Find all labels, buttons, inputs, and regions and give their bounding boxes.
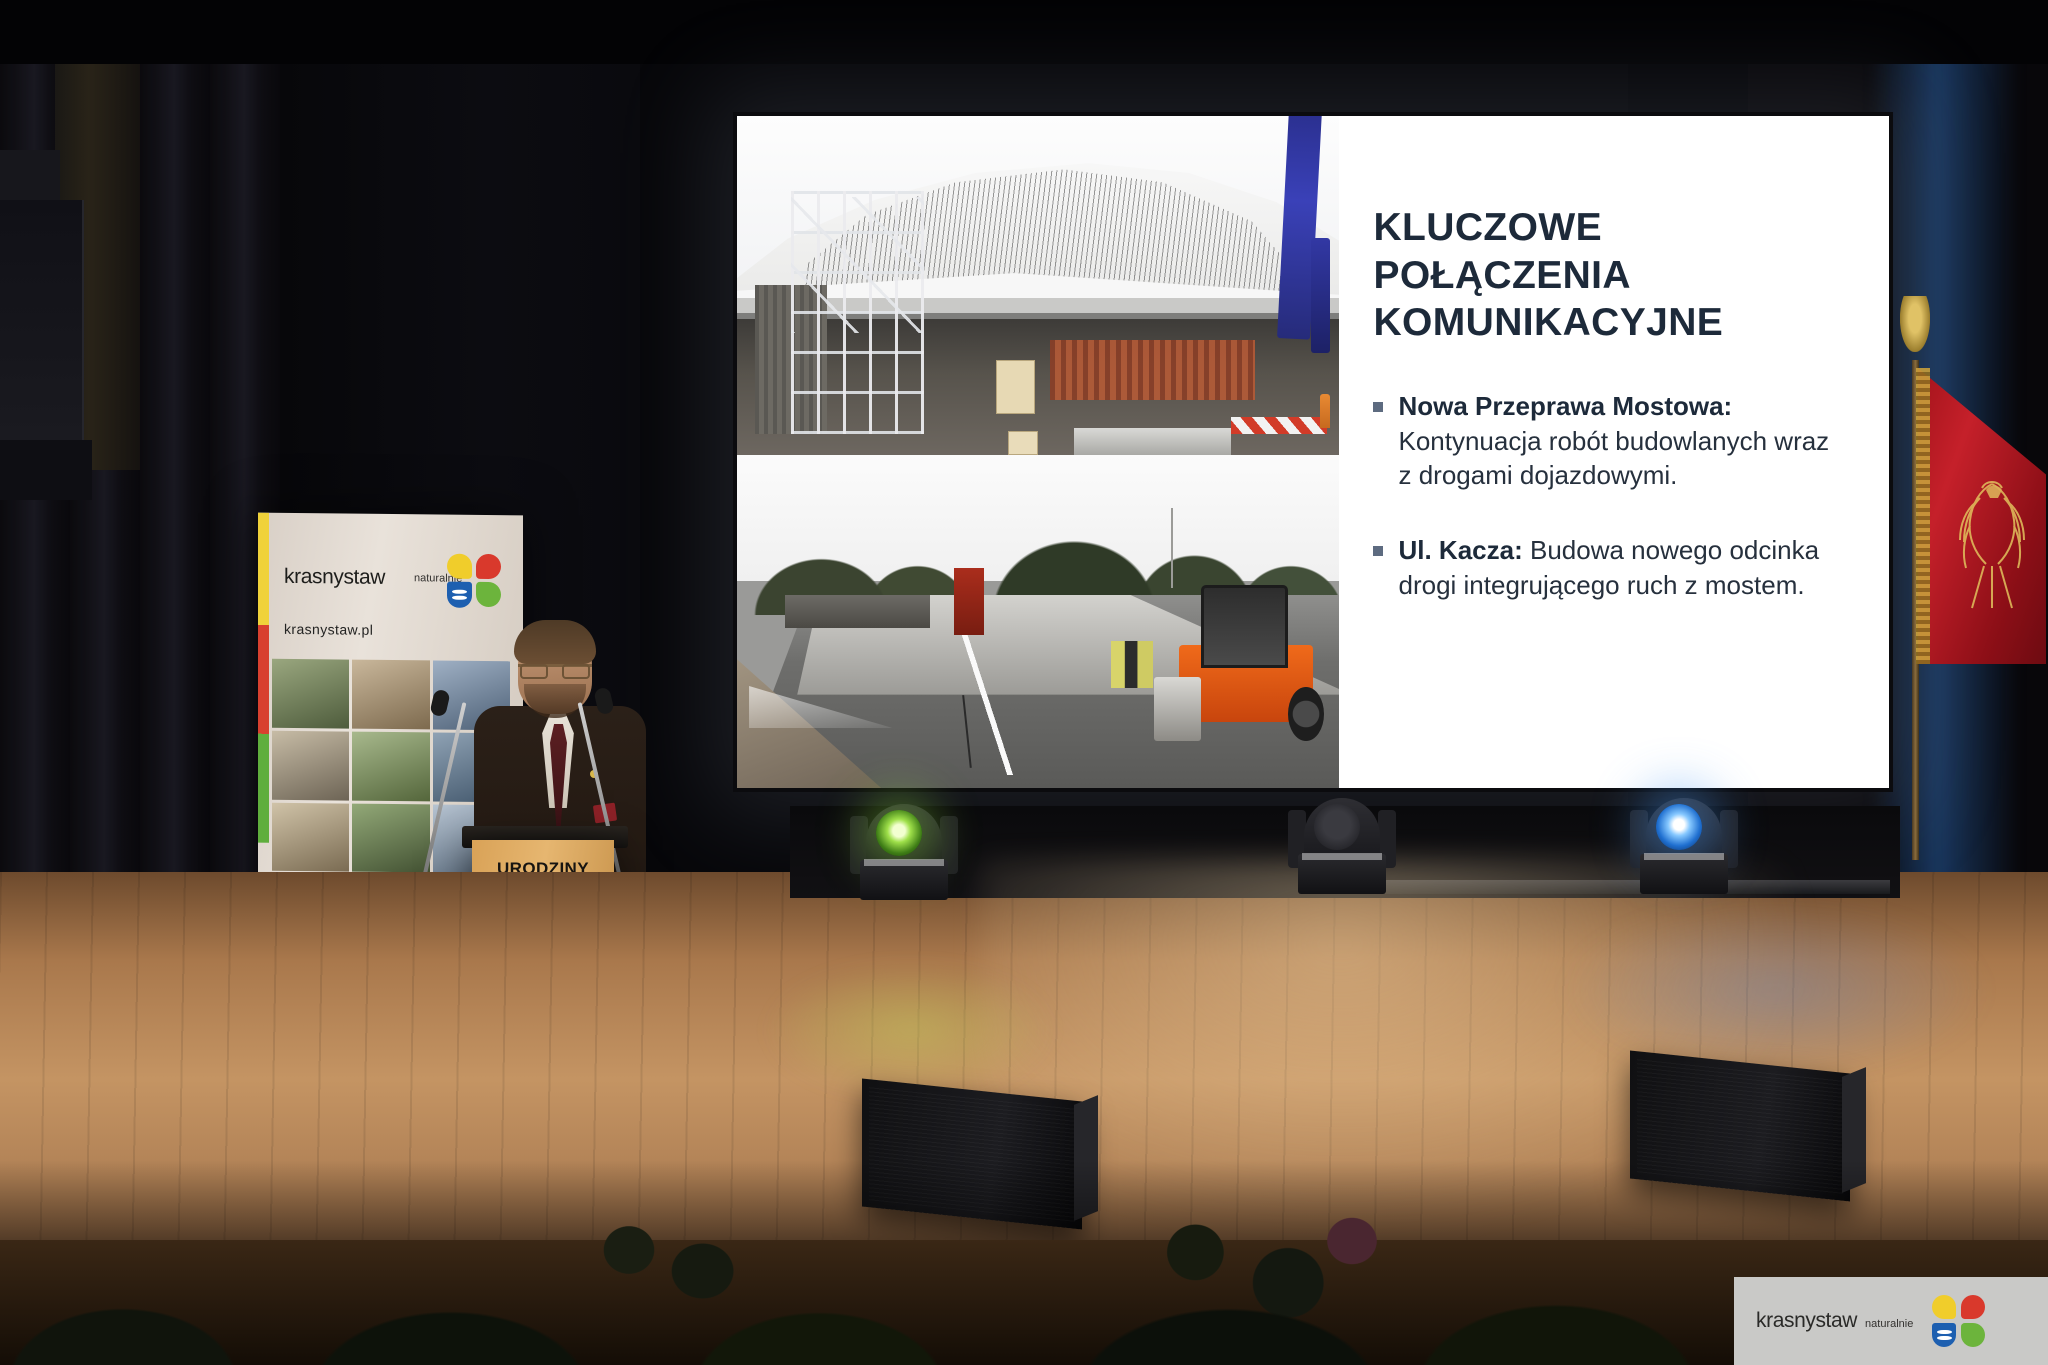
banner-photo-tile [352,731,429,801]
roller-cab [1201,585,1288,668]
banner-photo-tile [272,659,349,729]
slide-text-column: KLUCZOWE POŁĄCZENIA KOMUNIKACYJNE Nowa P… [1339,116,1889,788]
presentation-slide: KLUCZOWE POŁĄCZENIA KOMUNIKACYJNE Nowa P… [737,116,1889,788]
banner-gold-fringe [1916,368,1930,664]
krasnystaw-logo-marks [446,553,504,610]
light-indicator-bar [1302,853,1382,860]
stage-scene: KLUCZOWE POŁĄCZENIA KOMUNIKACYJNE Nowa P… [0,0,2048,1365]
bullet-1-body: Kontynuacja robót budowlanych wraz z dro… [1398,426,1829,491]
petal-green-icon [476,582,501,607]
petal-green-icon [1961,1323,1985,1347]
bullet-1-text: Nowa Przeprawa Mostowa: Kontynuacja robó… [1398,389,1845,493]
polish-eagle-icon [1946,468,2038,618]
bullet-1-lead: Nowa Przeprawa Mostowa: [1398,391,1732,421]
light-lens-blue [1656,804,1702,850]
light-indicator-bar [1644,853,1724,860]
site-sign [996,360,1035,414]
glasses-lens-right [562,664,590,679]
banner-photo-tile [272,731,349,801]
bullet-square-icon [1373,546,1383,556]
floor-light-pool-blue [1560,900,1990,1080]
site-sign-secondary [1008,431,1038,455]
light-lens-green [876,810,922,856]
slide-bullet-1: Nowa Przeprawa Mostowa: Kontynuacja robó… [1373,389,1845,493]
bullet-square-icon [1373,402,1383,412]
road-works-photo [737,455,1339,788]
bullet-2-lead: Ul. Kacza: [1398,535,1522,565]
glasses-lens-left [520,664,548,679]
equipment-rack-middle [0,200,84,440]
banner-photo-tile [352,660,429,730]
fish-glyph [1937,1336,1952,1340]
flag-finial-ornament [1900,296,1930,352]
light-indicator-bar [864,859,944,866]
speaker-hair [514,620,596,664]
fish-glyph [1937,1330,1952,1334]
banner-logo: krasnystaw naturalnie [284,549,504,613]
petal-red-icon [1961,1295,1985,1319]
corner-watermark: krasnystaw naturalnie [1734,1277,2048,1365]
equipment-rack-bottom [0,440,92,500]
scaffolding-braces [791,197,924,332]
fish-glyph [452,590,467,594]
concrete-slabs [1074,428,1231,455]
watermark-logo-marks [1931,1294,1987,1348]
light-lens-off [1314,804,1360,850]
slide-title: KLUCZOWE POŁĄCZENIA KOMUNIKACYJNE [1373,204,1845,347]
banner-brand-text: krasnystaw [284,565,385,590]
watermark-brand-text: krasnystaw [1756,1309,1857,1333]
light-base [860,860,948,900]
fish-shield-icon [447,582,472,608]
moving-head-light-green [846,792,962,900]
fish-shield-icon [1932,1323,1956,1347]
moving-head-light-blue [1626,786,1742,894]
slide-bullet-2: Ul. Kacza: Budowa nowego odcinka drogi i… [1373,533,1845,603]
light-base [1298,854,1386,894]
blue-crane-mast [1311,238,1330,353]
roller-wheel [1288,687,1324,741]
site-barrier [1231,417,1327,434]
light-base [1640,854,1728,894]
watermark-tagline-text: naturalnie [1865,1318,1913,1330]
moving-head-light-center [1284,786,1400,894]
banner-photo-tile [272,802,349,872]
banner-photo-tile [352,803,429,873]
timber-falsework [1050,340,1255,401]
bridge-construction-photo [737,116,1339,455]
floor-light-pool-green [760,960,1060,1100]
construction-worker [1320,394,1331,428]
red-excavator [954,568,984,635]
bullet-2-text: Ul. Kacza: Budowa nowego odcinka drogi i… [1398,533,1845,603]
petal-yellow-icon [1932,1295,1956,1319]
fish-glyph [452,596,467,600]
light-pole [1171,508,1173,588]
background-machinery [785,595,930,628]
ceiling-band [0,0,2048,64]
road-roller [1147,581,1328,741]
petal-yellow-icon [447,554,472,579]
slide-image-column [737,116,1339,788]
banner-color-stripe [258,513,269,843]
petal-red-icon [476,554,501,579]
roller-drum [1154,677,1201,741]
banner-website-url: krasnystaw.pl [284,621,373,638]
projection-screen: KLUCZOWE POŁĄCZENIA KOMUNIKACYJNE Nowa P… [733,112,1893,792]
equipment-rack-top [0,150,60,202]
